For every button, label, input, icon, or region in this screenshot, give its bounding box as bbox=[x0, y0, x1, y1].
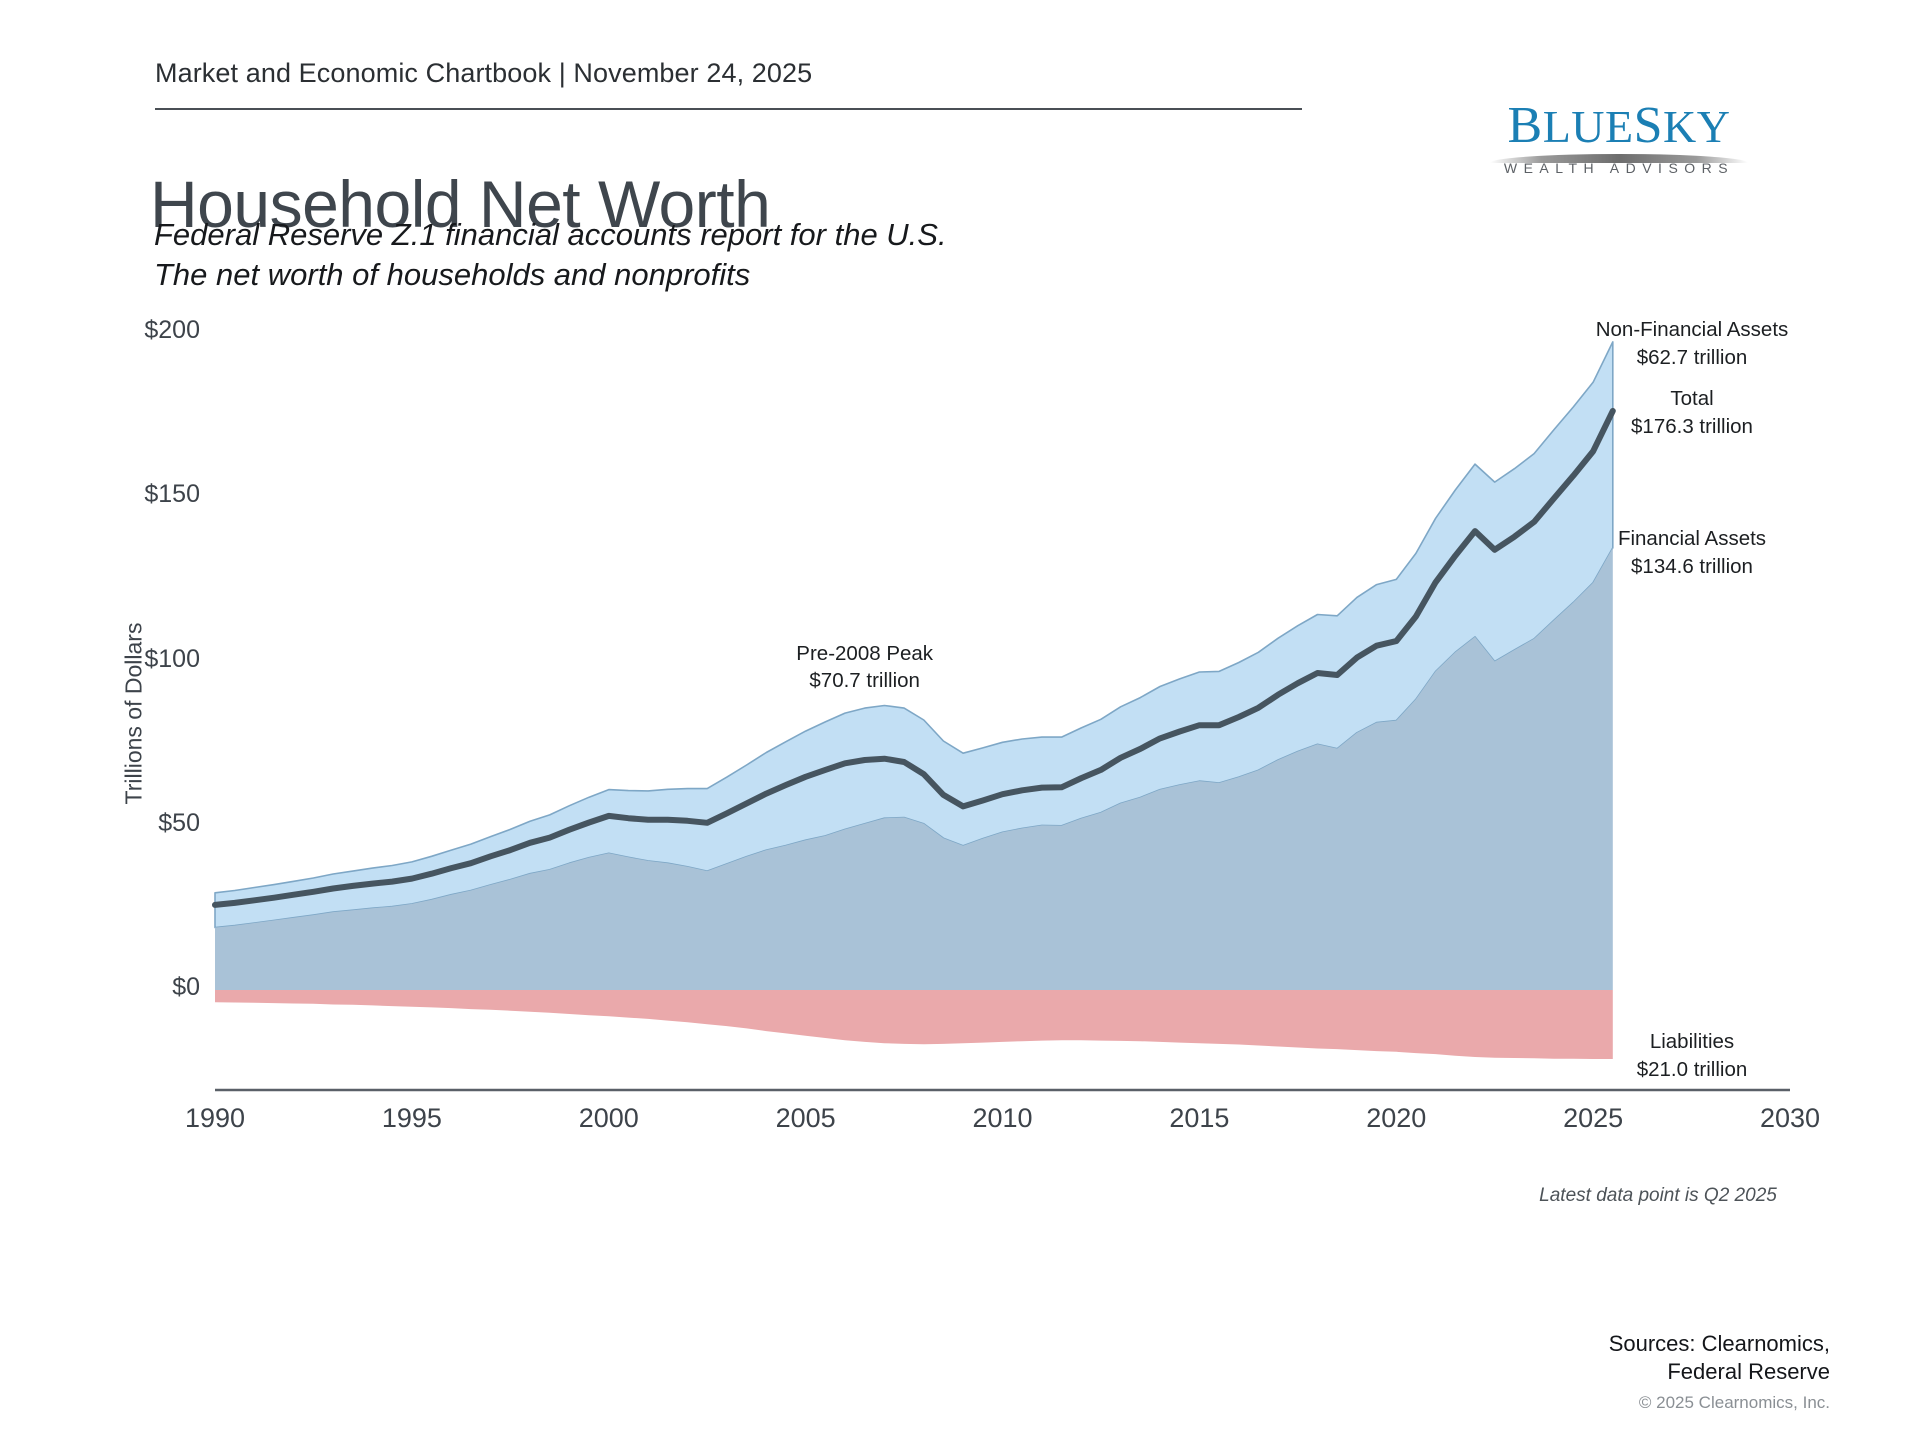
x-tick-2000: 2000 bbox=[549, 1103, 669, 1134]
y-axis-title: Trillions of Dollars bbox=[121, 554, 148, 874]
x-tick-2010: 2010 bbox=[943, 1103, 1063, 1134]
y-tick-0: $0 bbox=[50, 973, 200, 1002]
x-tick-2030: 2030 bbox=[1730, 1103, 1850, 1134]
x-tick-2005: 2005 bbox=[746, 1103, 866, 1134]
annotation-total-value: $176.3 trillion bbox=[1572, 413, 1812, 441]
latest-data-note: Latest data point is Q2 2025 bbox=[1508, 1185, 1808, 1207]
x-tick-1990: 1990 bbox=[155, 1103, 275, 1134]
sources-line-2: Federal Reserve bbox=[1350, 1358, 1830, 1386]
annotation-financial-assets-value: $134.6 trillion bbox=[1572, 553, 1812, 581]
annotation-non-financial-assets-label: Non-Financial Assets bbox=[1572, 316, 1812, 344]
copyright-text: © 2025 Clearnomics, Inc. bbox=[1350, 1393, 1830, 1413]
annotation-financial-assets: Financial Assets $134.6 trillion bbox=[1572, 525, 1812, 580]
annotation-liabilities-value: $21.0 trillion bbox=[1572, 1056, 1812, 1084]
annotation-non-financial-assets-value: $62.7 trillion bbox=[1572, 344, 1812, 372]
x-tick-1995: 1995 bbox=[352, 1103, 472, 1134]
net-worth-area-chart bbox=[0, 0, 1920, 1440]
annotation-pre-2008-peak: Pre-2008 Peak $70.7 trillion bbox=[735, 640, 995, 695]
chart-area: $0$50$100$150$200 Trillions of Dollars 1… bbox=[0, 0, 1920, 1440]
annotation-financial-assets-label: Financial Assets bbox=[1572, 525, 1812, 553]
x-tick-2020: 2020 bbox=[1336, 1103, 1456, 1134]
x-tick-2025: 2025 bbox=[1533, 1103, 1653, 1134]
sources-line-1: Sources: Clearnomics, bbox=[1350, 1330, 1830, 1358]
y-tick-200: $200 bbox=[50, 316, 200, 345]
annotation-liabilities-label: Liabilities bbox=[1572, 1028, 1812, 1056]
annotation-total-label: Total bbox=[1572, 385, 1812, 413]
annotation-pre-2008-peak-label: Pre-2008 Peak bbox=[735, 640, 995, 668]
annotation-total: Total $176.3 trillion bbox=[1572, 385, 1812, 440]
x-tick-2015: 2015 bbox=[1139, 1103, 1259, 1134]
chartbook-slide: Market and Economic Chartbook | November… bbox=[0, 0, 1920, 1440]
sources-text: Sources: Clearnomics, Federal Reserve bbox=[1350, 1330, 1830, 1386]
y-tick-150: $150 bbox=[50, 480, 200, 509]
annotation-liabilities: Liabilities $21.0 trillion bbox=[1572, 1028, 1812, 1083]
annotation-non-financial-assets: Non-Financial Assets $62.7 trillion bbox=[1572, 316, 1812, 371]
annotation-pre-2008-peak-value: $70.7 trillion bbox=[735, 667, 995, 695]
